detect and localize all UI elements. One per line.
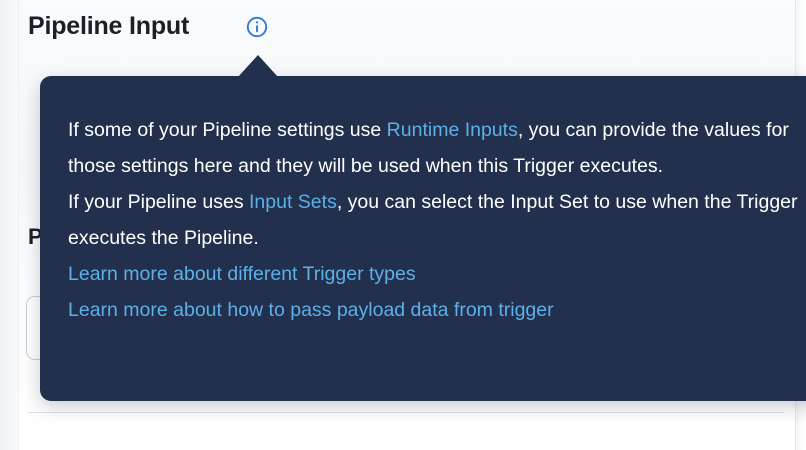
tooltip-body: If some of your Pipeline settings use Ru…: [68, 112, 806, 328]
tooltip-p2-text-before: If your Pipeline uses: [68, 191, 249, 213]
screen: P Pipeline Input If some of your Pipelin…: [0, 0, 806, 450]
tooltip-p1-text-before: If some of your Pipeline settings use: [68, 119, 387, 141]
section-divider: [28, 412, 784, 413]
tooltip-arrow: [238, 55, 278, 77]
tooltip-paragraph-2: If your Pipeline uses Input Sets, you ca…: [68, 184, 806, 256]
tooltip-paragraph-1: If some of your Pipeline settings use Ru…: [68, 112, 806, 184]
page-left-edge: [0, 0, 19, 450]
page-title: Pipeline Input: [28, 12, 189, 41]
info-circle-icon[interactable]: [244, 14, 270, 40]
runtime-inputs-link[interactable]: Runtime Inputs: [387, 119, 518, 141]
learn-more-payload-data-link[interactable]: Learn more about how to pass payload dat…: [68, 292, 554, 328]
input-sets-link[interactable]: Input Sets: [249, 191, 337, 213]
pipeline-input-tooltip: If some of your Pipeline settings use Ru…: [40, 76, 806, 401]
learn-more-trigger-types-link[interactable]: Learn more about different Trigger types: [68, 256, 416, 292]
